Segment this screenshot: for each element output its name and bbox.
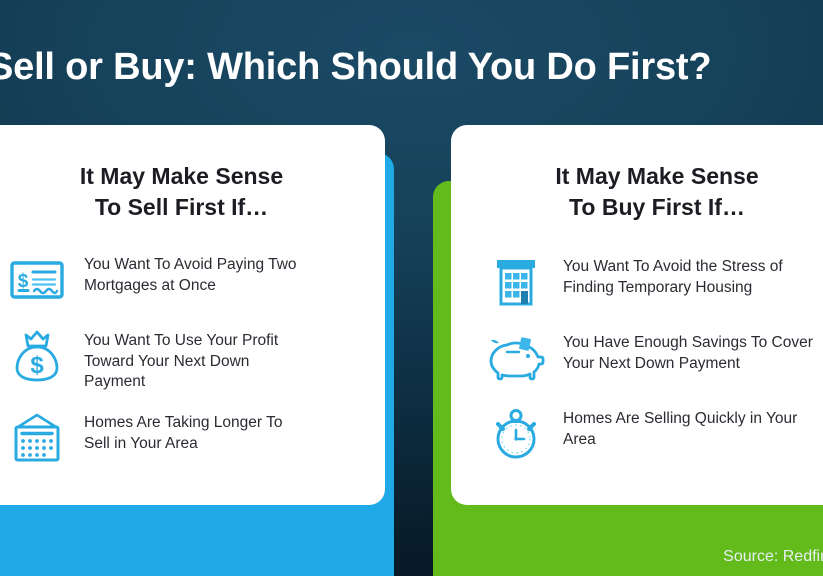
piggy-bank-icon [485,327,547,389]
check-payment-icon: $ [6,249,68,311]
list-item-label: You Have Enough Savings To Cover Your Ne… [547,327,813,374]
money-bag-icon: $ [6,325,68,387]
svg-text:$: $ [30,352,44,379]
source-attribution: Source: Redfin [723,548,823,566]
card-heading-buy-line2: To Buy First If… [451,192,823,223]
list-item-label: Homes Are Selling Quickly in Your Area [547,403,813,450]
list-item-label: Homes Are Taking Longer To Sell in Your … [68,407,299,454]
list-item-label: You Want To Avoid Paying Two Mortgages a… [68,249,299,296]
card-body-sell: It May Make Sense To Sell First If… $ [0,125,385,505]
apartment-building-icon [485,251,547,313]
list-item: Homes Are Taking Longer To Sell in Your … [0,407,385,469]
list-item-label: You Want To Avoid the Stress of Finding … [547,251,813,298]
card-heading-sell-line2: To Sell First If… [0,192,385,223]
calendar-icon [6,407,68,469]
list-item: You Have Enough Savings To Cover Your Ne… [451,327,823,389]
bullet-list-sell: $ You Want To Avoid Paying Two Mortgages… [0,223,385,469]
page-title: Sell or Buy: Which Should You Do First? [0,46,748,90]
list-item: Homes Are Selling Quickly in Your Area [451,403,823,465]
list-item: $ You Want To Avoid Paying Two Mortgages… [0,249,385,311]
card-heading-sell: It May Make Sense To Sell First If… [0,125,385,223]
card-heading-buy-line1: It May Make Sense [451,161,823,192]
list-item: $ You Want To Use Your Profit Toward You… [0,325,385,393]
stopwatch-icon [485,403,547,465]
bullet-list-buy: You Want To Avoid the Stress of Finding … [451,223,823,465]
list-item-label: You Want To Use Your Profit Toward Your … [68,325,299,393]
list-item: You Want To Avoid the Stress of Finding … [451,251,823,313]
svg-text:$: $ [18,271,29,292]
card-heading-buy: It May Make Sense To Buy First If… [451,125,823,223]
infographic-canvas: Sell or Buy: Which Should You Do First? … [0,0,823,576]
card-body-buy: It May Make Sense To Buy First If… [451,125,823,505]
card-heading-sell-line1: It May Make Sense [0,161,385,192]
